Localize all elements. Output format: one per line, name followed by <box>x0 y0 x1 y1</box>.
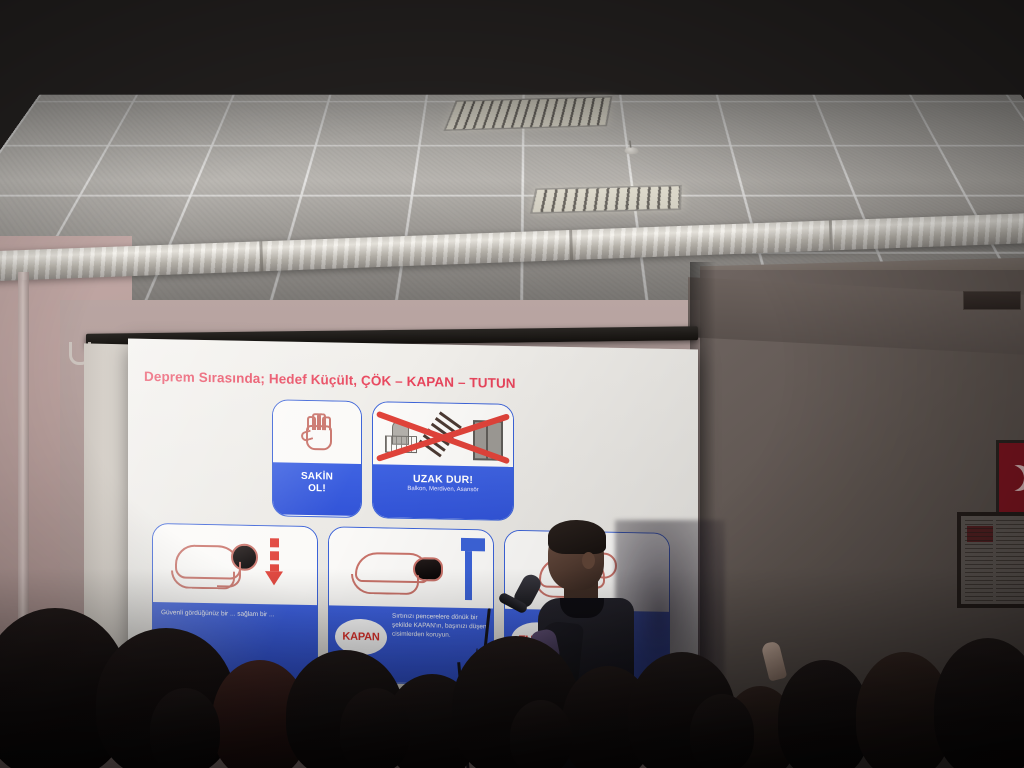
raised-hand <box>761 640 788 681</box>
card-title-line2: OL! <box>273 482 361 496</box>
slide-title: Deprem Sırasında; Hedef Küçült, ÇÖK – KA… <box>144 369 516 391</box>
card-label-band: SAKİN OL! <box>273 462 361 516</box>
audience-head <box>150 688 220 768</box>
audience-head <box>510 700 572 768</box>
crescent-icon <box>1005 465 1024 491</box>
audience-head <box>340 688 410 768</box>
card-sakin-ol: SAKİN OL! <box>272 399 362 518</box>
audience-head <box>934 638 1024 768</box>
card-label-band: UZAK DUR! Balkon, Merdiven, Asansör <box>373 464 513 520</box>
audience <box>0 578 1024 768</box>
audience-head <box>690 694 754 768</box>
card-uzak-dur: UZAK DUR! Balkon, Merdiven, Asansör <box>372 401 514 521</box>
card-subtitle: Balkon, Merdiven, Asansör <box>373 485 513 494</box>
photo-scene: Deprem Sırasında; Hedef Küçült, ÇÖK – KA… <box>0 0 1024 768</box>
presenter-ear <box>582 552 595 569</box>
red-cross-out-icon <box>379 412 507 460</box>
open-hand-icon <box>304 413 330 447</box>
presenter-hair <box>548 520 606 554</box>
wall-sign-plate <box>963 291 1021 310</box>
card-artwork <box>273 400 361 464</box>
card-row-top: SAKİN OL! <box>272 399 678 524</box>
card-artwork <box>373 402 513 467</box>
